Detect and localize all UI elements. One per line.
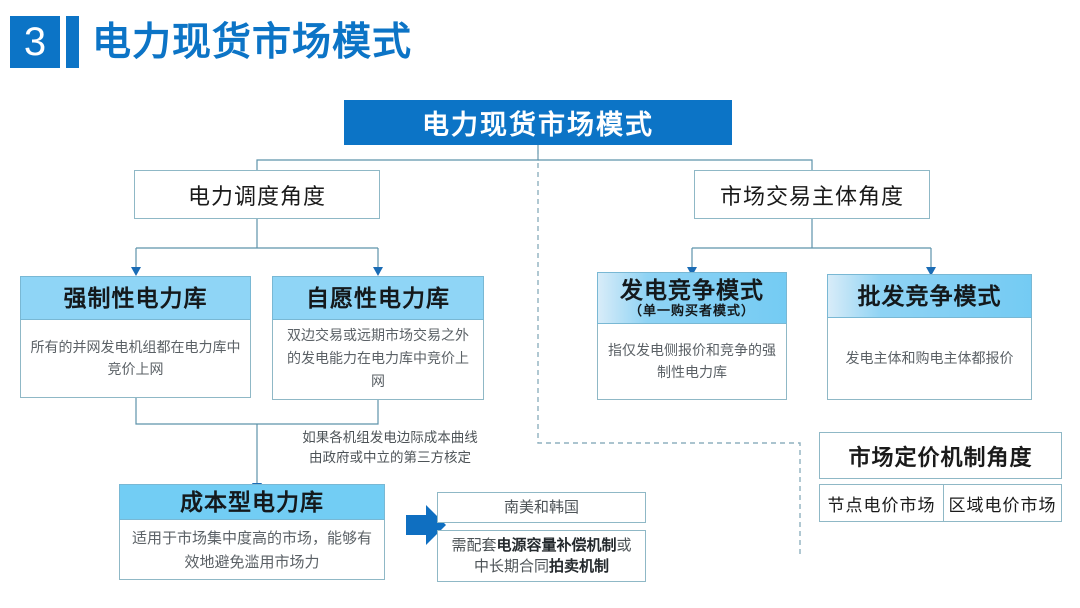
card-header: 自愿性电力库	[272, 276, 484, 320]
card-header: 批发竞争模式	[827, 274, 1032, 318]
arrowhead	[131, 267, 141, 276]
pricing-option-nodal[interactable]: 节点电价市场	[819, 484, 944, 522]
card-title: 发电竞争模式	[620, 277, 764, 303]
section-number-badge: 3	[10, 16, 60, 68]
card-cost-based-pool[interactable]: 成本型电力库 适用于市场集中度高的市场，能够有效地避免滥用市场力	[119, 484, 385, 580]
condition-note: 如果各机组发电边际成本曲线 由政府或中立的第三方核定	[265, 428, 515, 468]
card-body: 适用于市场集中度高的市场，能够有效地避免滥用市场力	[119, 520, 385, 580]
card-subtitle: （单一购买者模式）	[629, 303, 755, 319]
card-header: 强制性电力库	[20, 276, 251, 320]
example-region-box[interactable]: 南美和韩国	[437, 492, 646, 523]
card-title: 强制性电力库	[64, 285, 208, 311]
header-accent-bar	[66, 16, 79, 68]
card-header: 发电竞争模式 （单一购买者模式）	[597, 272, 787, 324]
branch-box-market-participant[interactable]: 市场交易主体角度	[694, 170, 930, 219]
card-wholesale-competition[interactable]: 批发竞争模式 发电主体和购电主体都报价	[827, 274, 1032, 400]
requirement-text: 需配套电源容量补偿机制或中长期合同拍卖机制	[444, 535, 639, 577]
slide-canvas: 3 电力现货市场模式	[0, 0, 1080, 608]
card-body: 双边交易或远期市场交易之外的发电能力在电力库中竞价上网	[272, 320, 484, 400]
card-mandatory-pool[interactable]: 强制性电力库 所有的并网发电机组都在电力库中竞价上网	[20, 276, 251, 398]
card-body: 指仅发电侧报价和竞争的强制性电力库	[597, 324, 787, 400]
card-title: 批发竞争模式	[858, 283, 1002, 309]
pricing-mechanism-title[interactable]: 市场定价机制角度	[819, 432, 1062, 479]
card-generation-competition[interactable]: 发电竞争模式 （单一购买者模式） 指仅发电侧报价和竞争的强制性电力库	[597, 272, 787, 400]
branch-box-dispatch[interactable]: 电力调度角度	[134, 170, 380, 219]
diagram-root-title: 电力现货市场模式	[344, 100, 732, 145]
page-title: 电力现货市场模式	[92, 18, 412, 68]
card-header: 成本型电力库	[119, 484, 385, 520]
example-requirement-box[interactable]: 需配套电源容量补偿机制或中长期合同拍卖机制	[437, 530, 646, 582]
card-body: 发电主体和购电主体都报价	[827, 318, 1032, 400]
card-title: 自愿性电力库	[306, 285, 450, 311]
card-title: 成本型电力库	[180, 489, 324, 515]
card-body: 所有的并网发电机组都在电力库中竞价上网	[20, 320, 251, 398]
pricing-option-zonal[interactable]: 区域电价市场	[943, 484, 1062, 522]
card-voluntary-pool[interactable]: 自愿性电力库 双边交易或远期市场交易之外的发电能力在电力库中竞价上网	[272, 276, 484, 400]
arrowhead	[373, 267, 383, 276]
